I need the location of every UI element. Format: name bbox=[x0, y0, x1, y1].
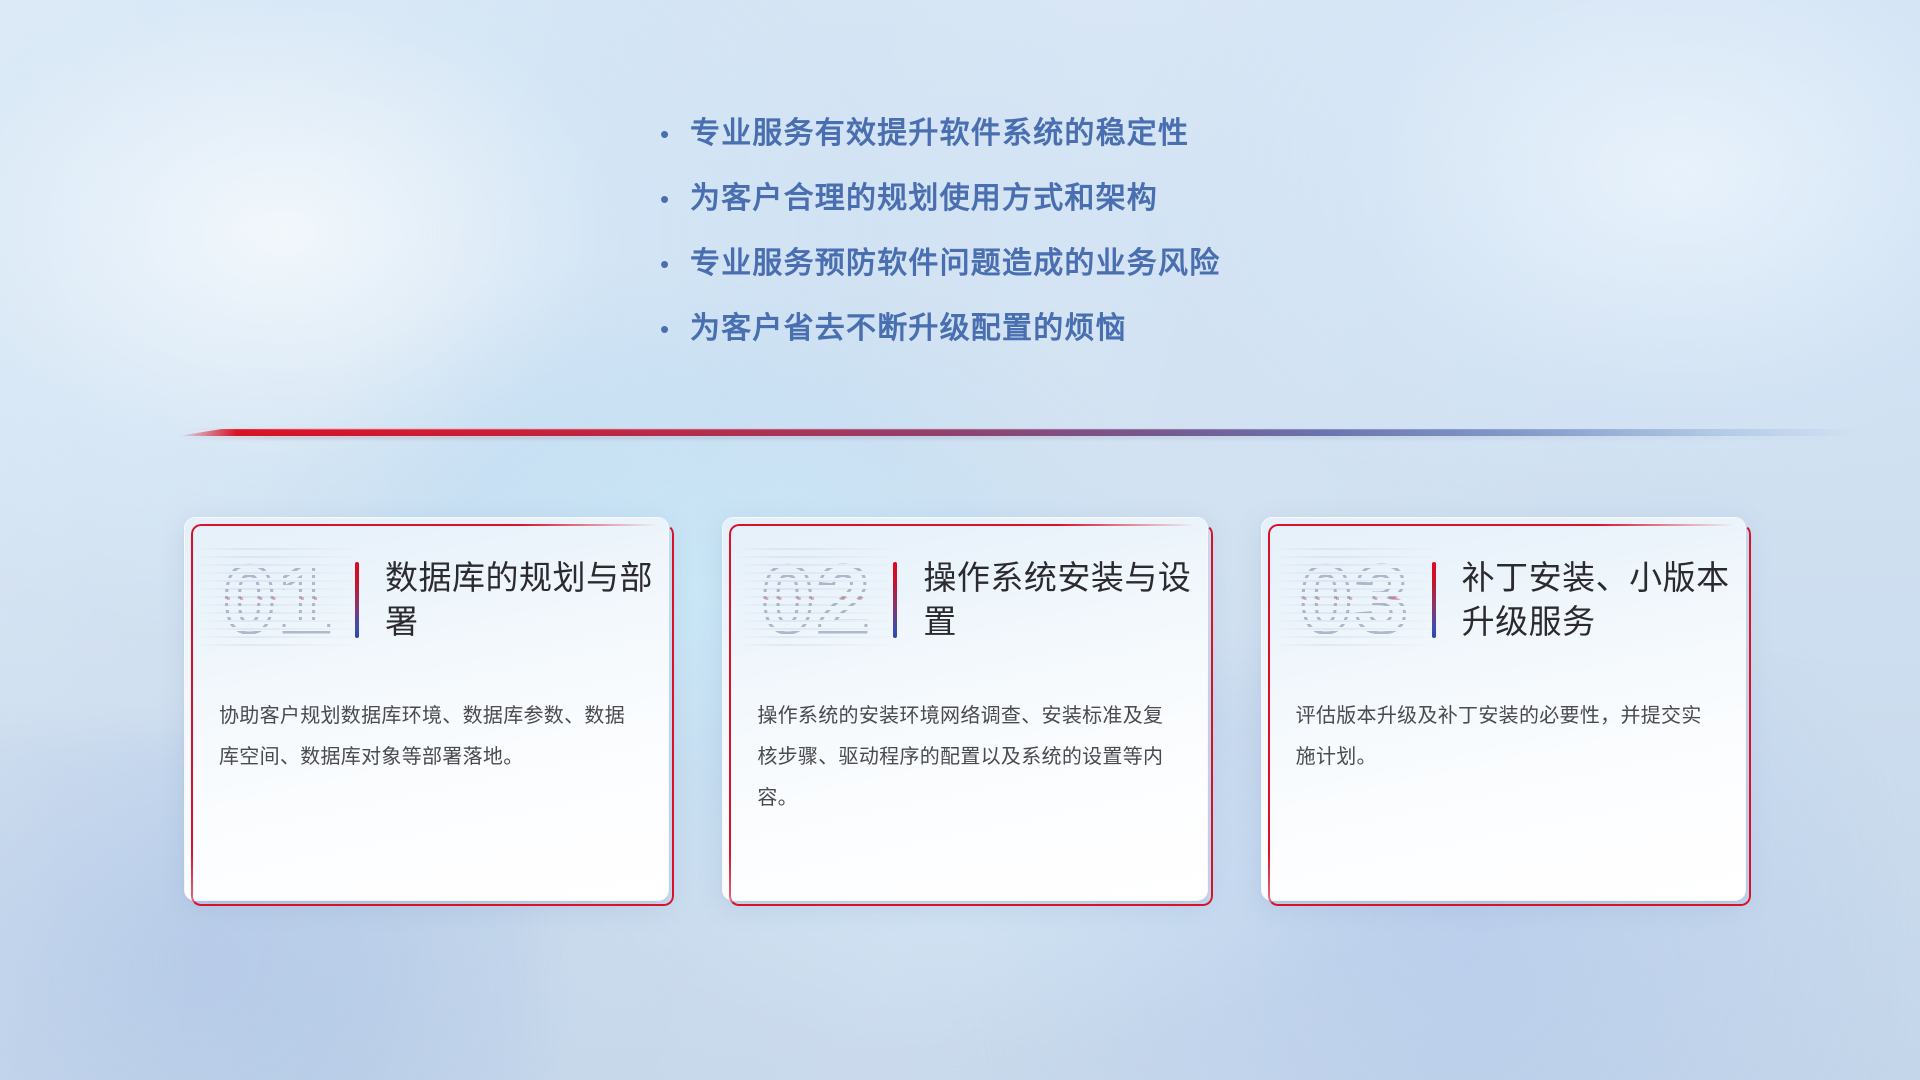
divider-shadow bbox=[178, 436, 1858, 439]
card-number-glyph-red-tint: 01 bbox=[205, 540, 355, 660]
bullet-dot-icon: • bbox=[660, 251, 690, 277]
bullet-dot-icon: • bbox=[660, 316, 690, 342]
service-card-01[interactable]: 01 01 数据库的规划与部署 协助客户规划数据库环境、数据库参数、数据库空间、… bbox=[185, 518, 668, 900]
card-surface: 02 02 操作系统安装与设置 操作系统的安装环境网络调查、安装标准及复核步骤、… bbox=[723, 518, 1206, 900]
card-header: 01 01 数据库的规划与部署 bbox=[185, 540, 668, 660]
section-divider bbox=[178, 425, 1858, 441]
card-body-text: 协助客户规划数据库环境、数据库参数、数据库空间、数据库对象等部署落地。 bbox=[219, 696, 638, 778]
bullet-text: 专业服务预防软件问题造成的业务风险 bbox=[690, 238, 1220, 282]
bullet-text: 为客户省去不断升级配置的烦恼 bbox=[690, 303, 1127, 347]
divider-gradient-line bbox=[178, 429, 1858, 436]
bullet-text: 专业服务有效提升软件系统的稳定性 bbox=[690, 108, 1189, 152]
card-surface: 03 03 补丁安装、小版本升级服务 评估版本升级及补丁安装的必要性，并提交实施… bbox=[1262, 518, 1745, 900]
card-title: 补丁安装、小版本升级服务 bbox=[1462, 556, 1732, 643]
bullet-text: 为客户合理的规划使用方式和架构 bbox=[690, 173, 1158, 217]
card-body-text: 操作系统的安装环境网络调查、安装标准及复核步骤、驱动程序的配置以及系统的设置等内… bbox=[757, 696, 1176, 819]
card-body-text: 评估版本升级及补丁安装的必要性，并提交实施计划。 bbox=[1296, 696, 1715, 778]
service-card-02[interactable]: 02 02 操作系统安装与设置 操作系统的安装环境网络调查、安装标准及复核步骤、… bbox=[723, 518, 1206, 900]
card-title: 操作系统安装与设置 bbox=[923, 556, 1193, 643]
list-item: • 为客户省去不断升级配置的烦恼 bbox=[660, 303, 1560, 368]
card-number-glyph-red-tint: 02 bbox=[743, 540, 893, 660]
card-header: 02 02 操作系统安装与设置 bbox=[723, 540, 1206, 660]
card-number-watermark: 02 02 bbox=[741, 540, 891, 660]
list-item: • 专业服务预防软件问题造成的业务风险 bbox=[660, 238, 1560, 303]
service-card-03[interactable]: 03 03 补丁安装、小版本升级服务 评估版本升级及补丁安装的必要性，并提交实施… bbox=[1262, 518, 1745, 900]
divider-highlight bbox=[178, 428, 1858, 430]
card-number-watermark: 01 01 bbox=[203, 540, 353, 660]
bullet-dot-icon: • bbox=[660, 186, 690, 212]
card-number-glyph-red-tint: 03 bbox=[1282, 540, 1432, 660]
card-number-watermark: 03 03 bbox=[1280, 540, 1430, 660]
list-item: • 为客户合理的规划使用方式和架构 bbox=[660, 173, 1560, 238]
bullet-dot-icon: • bbox=[660, 121, 690, 147]
card-title: 数据库的规划与部署 bbox=[385, 556, 655, 643]
card-header: 03 03 补丁安装、小版本升级服务 bbox=[1262, 540, 1745, 660]
list-item: • 专业服务有效提升软件系统的稳定性 bbox=[660, 108, 1560, 173]
card-surface: 01 01 数据库的规划与部署 协助客户规划数据库环境、数据库参数、数据库空间、… bbox=[185, 518, 668, 900]
benefits-bullet-list: • 专业服务有效提升软件系统的稳定性 • 为客户合理的规划使用方式和架构 • 专… bbox=[660, 108, 1560, 368]
service-card-list: 01 01 数据库的规划与部署 协助客户规划数据库环境、数据库参数、数据库空间、… bbox=[185, 518, 1745, 908]
